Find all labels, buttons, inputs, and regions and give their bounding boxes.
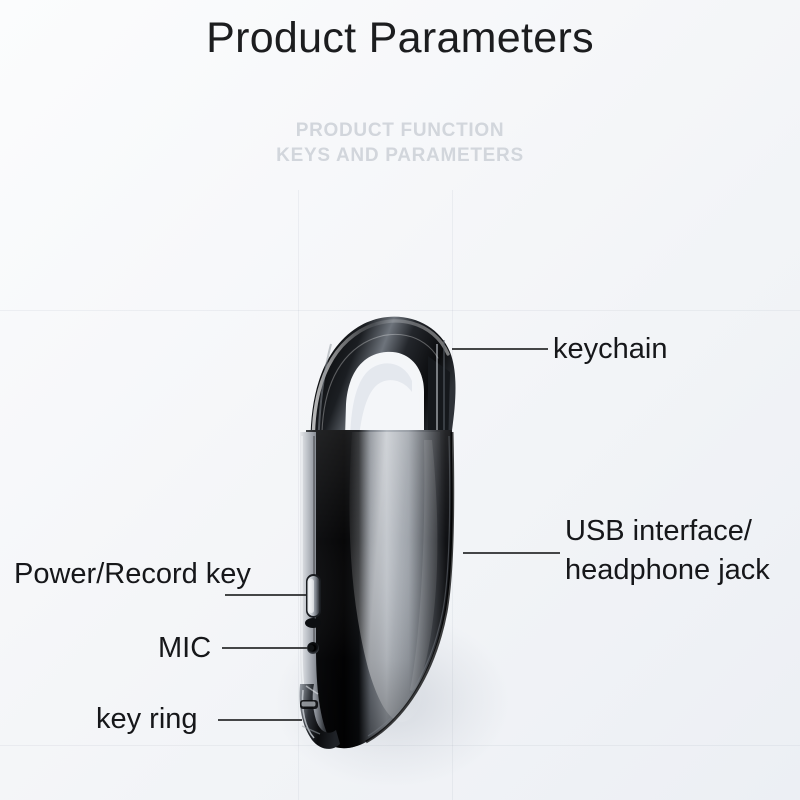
- callout-mic: MIC: [158, 629, 211, 668]
- callout-power-label: Power/Record key: [14, 555, 251, 594]
- callout-keychain: keychain: [553, 330, 667, 369]
- leader-dot-mic: [308, 645, 314, 651]
- callout-keyring-label: key ring: [96, 700, 198, 739]
- callout-usb-label-line-1: USB interface/: [565, 512, 770, 551]
- product-illustration: [0, 0, 800, 800]
- power-record-key[interactable]: [305, 574, 321, 628]
- callout-key-ring: key ring: [96, 700, 198, 739]
- callout-mic-label: MIC: [158, 629, 211, 668]
- product-parameters-infographic: Product Parameters PRODUCT FUNCTION KEYS…: [0, 0, 800, 800]
- callout-power-record-key: Power/Record key: [14, 555, 251, 594]
- callout-usb-label-line-2: headphone jack: [565, 551, 770, 590]
- callout-keychain-label: keychain: [553, 330, 667, 369]
- callout-usb-headphone: USB interface/ headphone jack: [565, 512, 770, 590]
